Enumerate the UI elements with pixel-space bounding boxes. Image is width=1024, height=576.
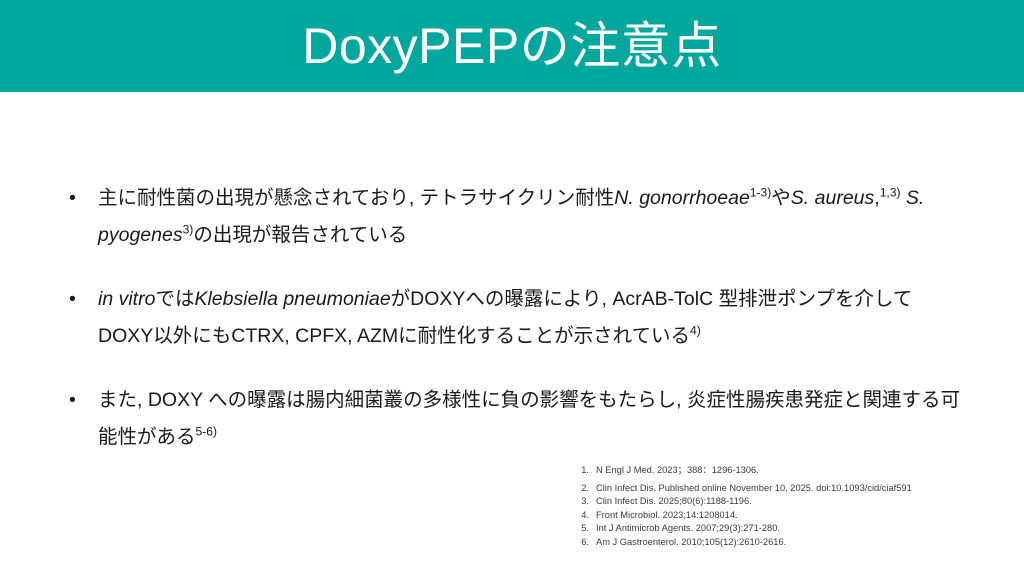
reference-item: 5.Int J Antimicrob Agents. 2007;29(3):27… [572,522,1017,536]
reference-text: Clin Infect Dis. 2025;80(6):1188-1196. [596,495,1017,509]
text-run: また, DOXY への曝露は腸内細菌叢の多様性に負の影響をもたらし, 炎症性腸疾… [98,389,960,448]
citation-superscript: 5-6) [196,425,217,439]
reference-item: 2.Clin Infect Dis. Published online Nove… [572,482,1017,496]
page-title: DoxyPEPの注意点 [0,0,1024,92]
bullet-item-1: • 主に耐性菌の出現が懸念されており, テトラサイクリン耐性N. gonorrh… [62,180,967,254]
bullet-list: • 主に耐性菌の出現が懸念されており, テトラサイクリン耐性N. gonorrh… [62,180,967,456]
bullet-text-3: また, DOXY への曝露は腸内細菌叢の多様性に負の影響をもたらし, 炎症性腸疾… [98,382,967,456]
bullet-marker-icon: • [69,281,76,318]
italic-term: in vitro [98,288,155,310]
text-run: では [155,288,194,310]
reference-number: 6. [572,536,596,550]
bullet-marker-icon: • [69,382,76,419]
reference-number: 5. [572,522,596,536]
bullet-text-1: 主に耐性菌の出現が懸念されており, テトラサイクリン耐性N. gonorrhoe… [98,180,967,254]
bullet-item-3: • また, DOXY への曝露は腸内細菌叢の多様性に負の影響をもたらし, 炎症性… [62,382,967,456]
reference-text: Front Microbiol. 2023;14:1208014. [596,509,1017,523]
reference-text: Am J Gastroenterol. 2010;105(12):2610-26… [596,536,1017,550]
reference-number: 1. [572,464,596,478]
reference-text: N Engl J Med. 2023；388：1296-1306. [596,464,1017,478]
reference-number: 3. [572,495,596,509]
reference-item: 1.N Engl J Med. 2023；388：1296-1306. [572,464,1017,478]
bullet-text-2: in vitroではKlebsiella pneumoniaeがDOXYへの曝露… [98,281,967,355]
italic-term: Klebsiella pneumoniae [194,288,390,310]
reference-number: 2. [572,482,596,496]
reference-list: 1.N Engl J Med. 2023；388：1296-1306.2.Cli… [572,464,1017,550]
reference-text: Int J Antimicrob Agents. 2007;29(3):271-… [596,522,1017,536]
italic-term: N. gonorrhoeae [614,187,750,209]
text-run: の出現が報告されている [193,224,407,246]
reference-item: 6.Am J Gastroenterol. 2010;105(12):2610-… [572,536,1017,550]
citation-superscript: 1,3) [880,186,901,200]
italic-term: S. aureus [791,187,874,209]
bullet-item-2: • in vitroではKlebsiella pneumoniaeがDOXYへの… [62,281,967,355]
text-run: 主に耐性菌の出現が懸念されており, テトラサイクリン耐性 [98,187,614,209]
citation-superscript: 3) [183,223,194,237]
reference-number: 4. [572,509,596,523]
reference-item: 3.Clin Infect Dis. 2025;80(6):1188-1196. [572,495,1017,509]
reference-text: Clin Infect Dis. Published online Novemb… [596,482,1017,496]
citation-superscript: 4) [690,324,701,338]
slide: DoxyPEPの注意点 • 主に耐性菌の出現が懸念されており, テトラサイクリン… [0,0,1024,576]
text-run: や [771,187,791,209]
bullet-marker-icon: • [69,180,76,217]
reference-item: 4.Front Microbiol. 2023;14:1208014. [572,509,1017,523]
citation-superscript: 1-3) [750,186,771,200]
